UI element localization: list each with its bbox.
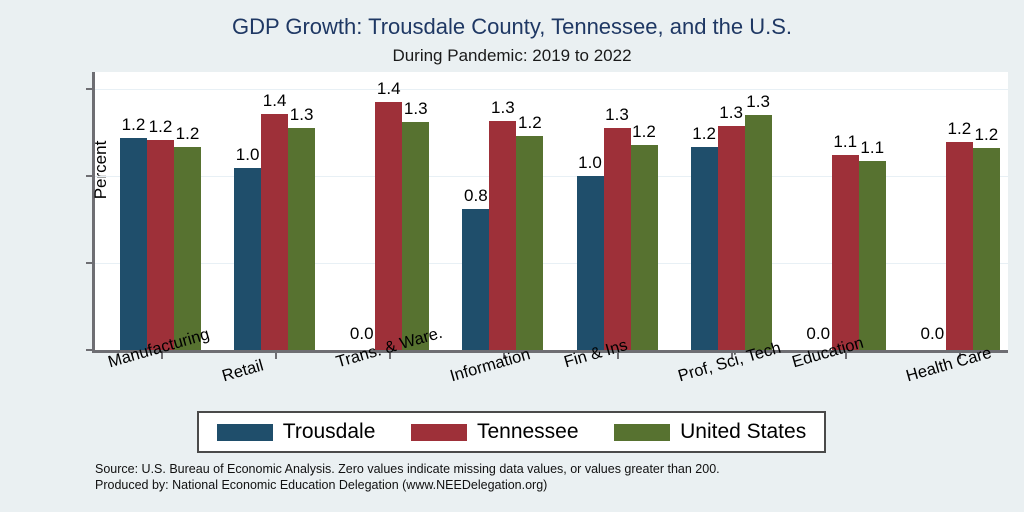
- bar: [577, 176, 604, 350]
- bar-value-label: 1.3: [398, 99, 434, 119]
- chart-title: GDP Growth: Trousdale County, Tennessee,…: [0, 14, 1024, 40]
- bars-layer: 1.21.21.21.01.41.30.01.41.30.81.31.21.01…: [95, 72, 1008, 350]
- bar: [288, 128, 315, 350]
- bar: [604, 128, 631, 350]
- bar-value-label: 1.3: [740, 92, 776, 112]
- y-tick-mark: [86, 262, 93, 264]
- legend-item[interactable]: United States: [614, 420, 806, 444]
- footnote: Source: U.S. Bureau of Economic Analysis…: [95, 461, 720, 493]
- bar: [147, 140, 174, 350]
- bar: [631, 145, 658, 350]
- bar: [174, 147, 201, 350]
- y-tick-mark: [86, 88, 93, 90]
- bar-value-label: 1.3: [284, 105, 320, 125]
- legend-item[interactable]: Tennessee: [411, 420, 579, 444]
- bar-value-label: 1.2: [968, 125, 1004, 145]
- bar-value-label: 1.4: [371, 79, 407, 99]
- bar: [859, 161, 886, 350]
- bar-value-label: 1.2: [626, 122, 662, 142]
- bar-value-label: 1.1: [854, 138, 890, 158]
- chart-subtitle: During Pandemic: 2019 to 2022: [0, 46, 1024, 66]
- footnote-source: Source: U.S. Bureau of Economic Analysis…: [95, 461, 720, 477]
- bar: [832, 155, 859, 350]
- bar: [261, 114, 288, 350]
- x-tick-mark: [275, 352, 277, 359]
- bar-value-label: 1.2: [170, 124, 206, 144]
- bar: [718, 126, 745, 350]
- bar: [691, 147, 718, 350]
- bar: [402, 122, 429, 350]
- bar: [745, 115, 772, 350]
- y-tick-mark: [86, 349, 93, 351]
- bar: [462, 209, 489, 350]
- bar: [489, 121, 516, 350]
- bar: [946, 142, 973, 351]
- bar: [375, 102, 402, 350]
- legend-swatch: [411, 424, 467, 441]
- legend-swatch: [217, 424, 273, 441]
- legend-label: United States: [680, 420, 806, 444]
- footnote-producer: Produced by: National Economic Education…: [95, 477, 720, 493]
- legend-swatch: [614, 424, 670, 441]
- bar: [234, 168, 261, 350]
- legend-item[interactable]: Trousdale: [217, 420, 376, 444]
- y-tick-mark: [86, 175, 93, 177]
- legend-label: Trousdale: [283, 420, 376, 444]
- bar: [120, 138, 147, 350]
- bar: [516, 136, 543, 350]
- plot-area: Percent 0.511.5 1.21.21.21.01.41.30.01.4…: [92, 72, 1008, 353]
- legend-label: Tennessee: [477, 420, 579, 444]
- x-category-label: Retail: [220, 356, 266, 386]
- gdp-growth-bar-chart: GDP Growth: Trousdale County, Tennessee,…: [0, 0, 1024, 512]
- chart-legend: TrousdaleTennesseeUnited States: [197, 411, 826, 453]
- bar-value-label: 1.2: [512, 113, 548, 133]
- bar: [973, 148, 1000, 350]
